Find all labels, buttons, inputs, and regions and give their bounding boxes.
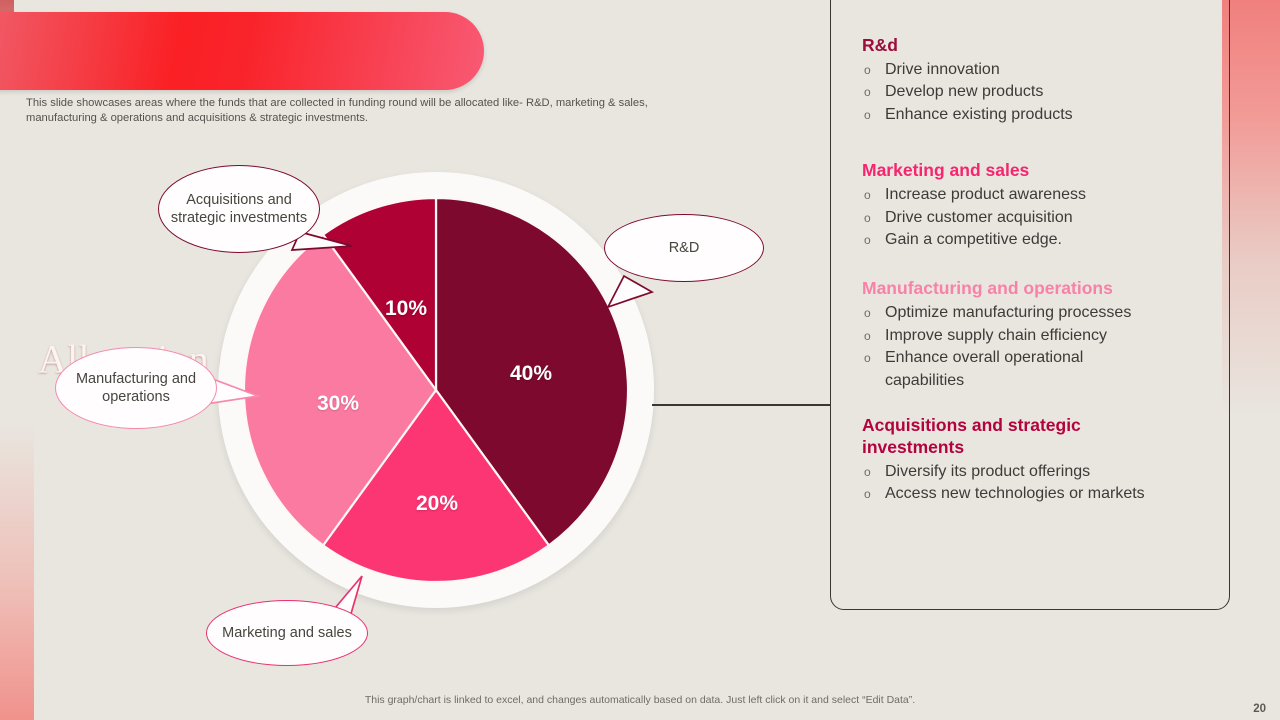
footer-note: This graph/chart is linked to excel, and… (0, 694, 1280, 706)
list-item: Gain a competitive edge. (862, 229, 1212, 251)
page-number: 20 (1253, 703, 1266, 715)
list-item: Improve supply chain efficiency (862, 325, 1212, 347)
callout-marketing[interactable]: Marketing and sales (206, 600, 368, 666)
list-item: Access new technologies or markets (862, 483, 1212, 505)
section-acquisitions-bullets: Diversify its product offerings Access n… (862, 461, 1212, 506)
slice-label-acquisitions: 10% (385, 297, 427, 321)
slide-canvas: Allocation of funds This slide showcases… (0, 0, 1280, 720)
callout-rd-label: R&D (661, 239, 708, 258)
section-marketing: Marketing and sales Increase product awa… (862, 159, 1212, 251)
section-rd-heading: R&d (862, 34, 1212, 56)
section-rd-bullets: Drive innovation Develop new products En… (862, 59, 1212, 126)
right-gradient-decoration (1222, 0, 1280, 420)
callout-manufacturing-label: Manufacturing and operations (56, 370, 216, 407)
slice-label-manufacturing: 30% (317, 392, 359, 416)
section-acquisitions: Acquisitions and strategic investments D… (862, 414, 1212, 506)
list-item: Enhance overall operational capabilities (862, 347, 1107, 392)
list-item: Diversify its product offerings (862, 461, 1212, 483)
section-manufacturing-heading: Manufacturing and operations (862, 277, 1212, 299)
list-item: Drive innovation (862, 59, 1212, 81)
list-item: Develop new products (862, 81, 1212, 103)
callout-manufacturing[interactable]: Manufacturing and operations (55, 347, 217, 429)
section-rd: R&d Drive innovation Develop new product… (862, 34, 1212, 126)
slice-label-rd: 40% (510, 362, 552, 386)
list-item: Enhance existing products (862, 104, 1212, 126)
list-item: Optimize manufacturing processes (862, 302, 1212, 324)
slice-label-marketing: 20% (416, 492, 458, 516)
callout-acquisitions-label: Acquisitions and strategic investments (159, 191, 319, 228)
slide-subtitle: This slide showcases areas where the fun… (26, 96, 716, 126)
callout-acquisitions[interactable]: Acquisitions and strategic investments (158, 165, 320, 253)
section-marketing-bullets: Increase product awareness Drive custome… (862, 184, 1212, 251)
left-bottom-gradient-decoration (0, 420, 34, 720)
callout-rd[interactable]: R&D (604, 214, 764, 282)
panel-connector-line (652, 404, 830, 406)
section-marketing-heading: Marketing and sales (862, 159, 1212, 181)
section-manufacturing: Manufacturing and operations Optimize ma… (862, 277, 1212, 392)
title-banner (0, 12, 484, 90)
list-item: Drive customer acquisition (862, 207, 1212, 229)
section-acquisitions-heading: Acquisitions and strategic investments (862, 414, 1097, 458)
section-manufacturing-bullets: Optimize manufacturing processes Improve… (862, 302, 1212, 392)
details-panel-content: R&d Drive innovation Develop new product… (862, 34, 1212, 523)
list-item: Increase product awareness (862, 184, 1212, 206)
callout-marketing-label: Marketing and sales (214, 624, 360, 643)
